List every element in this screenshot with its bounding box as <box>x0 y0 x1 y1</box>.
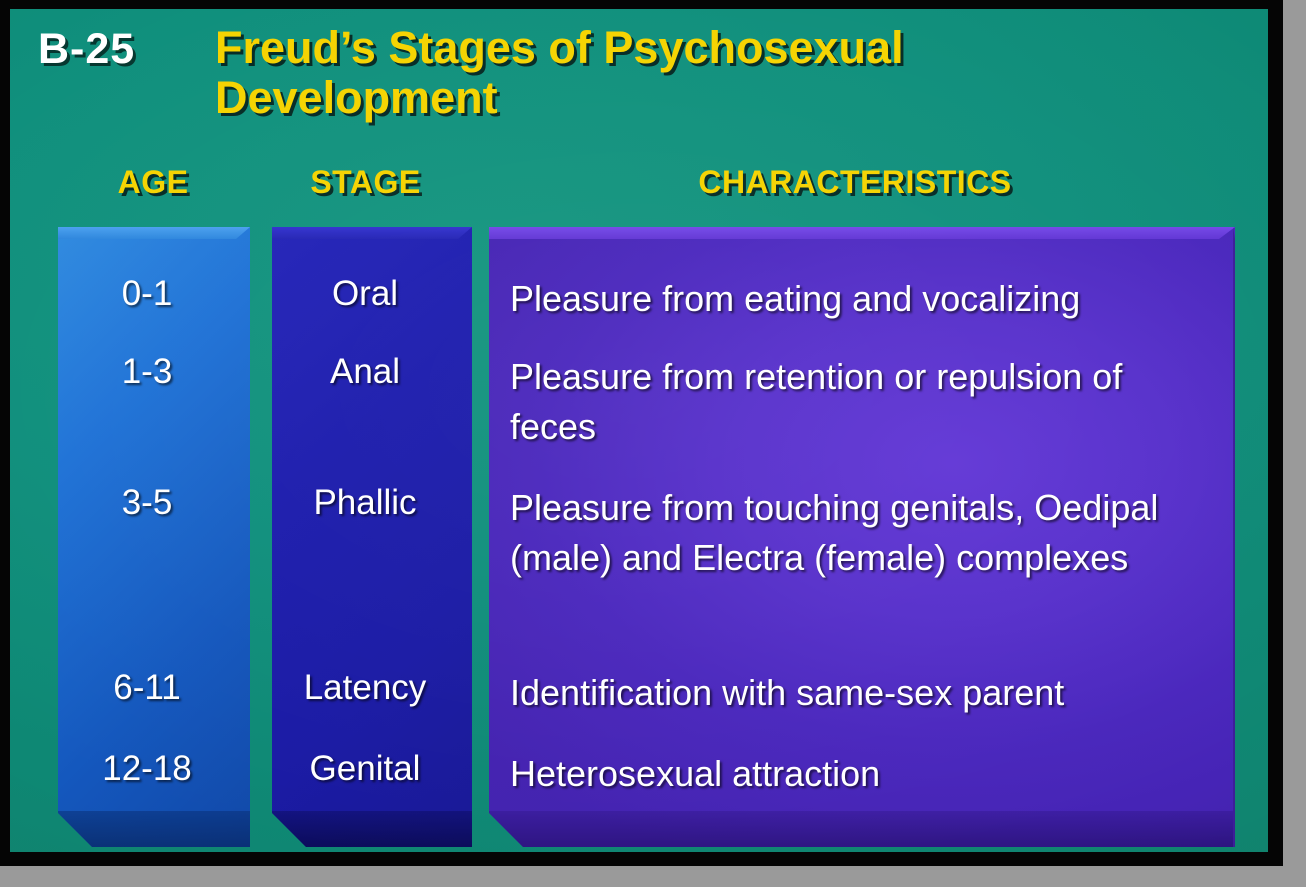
column-header-age: AGE <box>58 164 248 201</box>
slide-header: B-25 Freud’s Stages of Psychosexual Deve… <box>10 9 1268 149</box>
slide-title: Freud’s Stages of Psychosexual Developme… <box>215 23 1095 124</box>
age-column-bottom-bevel <box>58 811 250 847</box>
slide-code-label: B-25 <box>38 25 135 74</box>
table-cell-age: 12-18 <box>58 749 236 789</box>
table-cell-characteristics: Identification with same-sex parent <box>510 668 1210 718</box>
table-cell-stage: Anal <box>272 352 458 392</box>
slide-black-border: B-25 Freud’s Stages of Psychosexual Deve… <box>0 0 1283 866</box>
table-cell-characteristics: Pleasure from touching genitals, Oedipal… <box>510 483 1210 582</box>
table-cell-age: 1-3 <box>58 352 236 392</box>
stage-column-bottom-bevel <box>272 811 472 847</box>
characteristics-column-bottom-bevel <box>489 811 1235 847</box>
table-cell-stage: Phallic <box>272 483 458 523</box>
stage-column-top-bevel <box>272 227 472 239</box>
table-column-headers: AGE STAGE CHARACTERISTICS <box>10 164 1268 214</box>
table-cell-stage: Genital <box>272 749 458 789</box>
table-cell-age: 6-11 <box>58 668 236 708</box>
characteristics-column-top-bevel <box>489 227 1235 239</box>
table-cell-characteristics: Pleasure from retention or repulsion of … <box>510 352 1210 451</box>
column-header-characteristics: CHARACTERISTICS <box>480 164 1230 201</box>
table-cell-stage: Latency <box>272 668 458 708</box>
column-header-stage: STAGE <box>268 164 463 201</box>
slide-photo-frame: B-25 Freud’s Stages of Psychosexual Deve… <box>0 0 1306 887</box>
table-cell-characteristics: Heterosexual attraction <box>510 749 1210 799</box>
table-cell-age: 0-1 <box>58 274 236 314</box>
table-cell-stage: Oral <box>272 274 458 314</box>
age-column-top-bevel <box>58 227 250 239</box>
slide-surface: B-25 Freud’s Stages of Psychosexual Deve… <box>10 9 1268 852</box>
table-cell-age: 3-5 <box>58 483 236 523</box>
table-cell-characteristics: Pleasure from eating and vocalizing <box>510 274 1210 324</box>
